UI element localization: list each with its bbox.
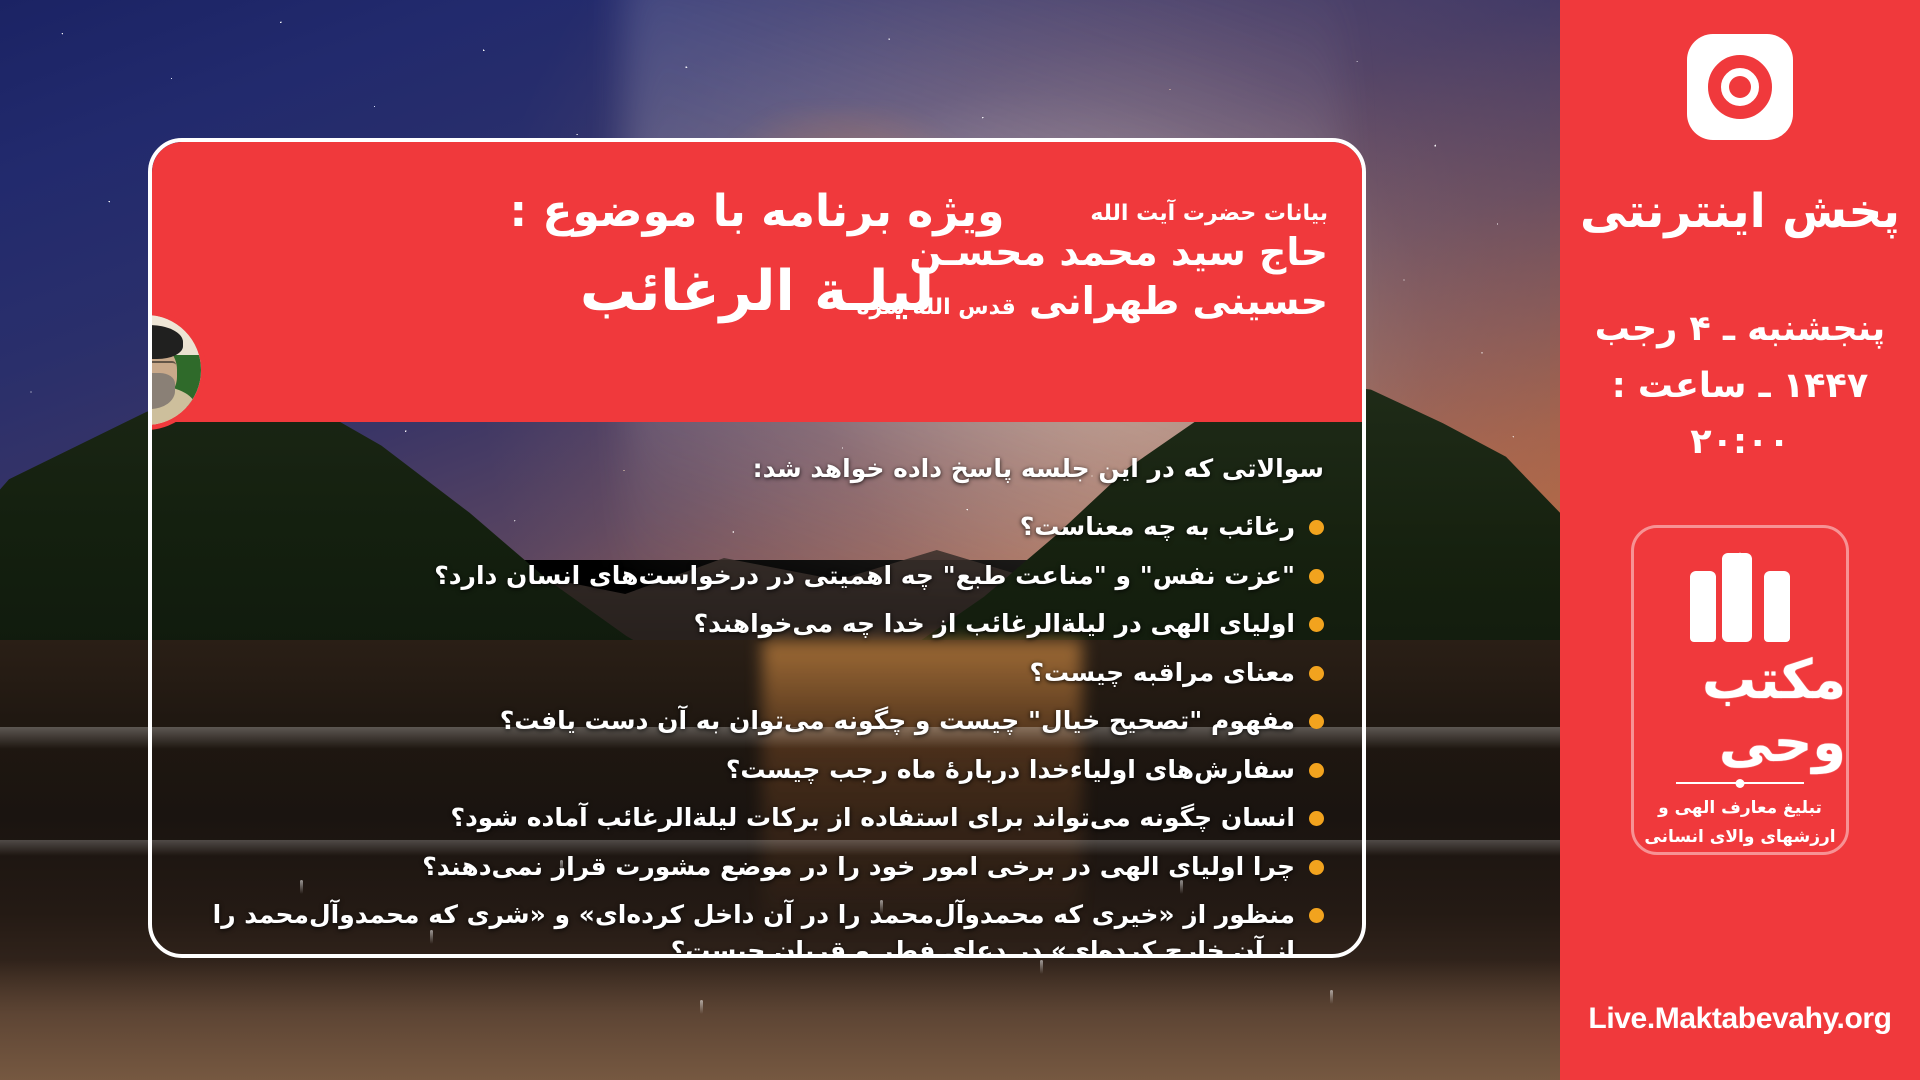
organization-logo: مکتب وحی تبلیغ معارف الهی و ارزشهای والا… (1631, 525, 1849, 855)
candle-flame-icon (1680, 552, 1800, 642)
program-title-line2: لیلـة الرغائب (152, 259, 1362, 324)
event-time-line: ۱۴۴۷ ـ ساعت : ۲۰:۰۰ (1560, 358, 1920, 471)
question-text: چرا اولیای الهی در برخی امور خود را در م… (190, 849, 1295, 885)
question-item: سفارش‌های اولیاءخدا دربارۀ ماه رجب چیست؟ (190, 752, 1324, 788)
bullet-icon (1309, 520, 1324, 535)
logo-tagline-line2: ارزشهای والای انسانی (1644, 823, 1835, 852)
question-item: اولیای الهی در لیلة‌الرغائب از خدا چه می… (190, 606, 1324, 642)
question-item: انسان چگونه می‌تواند برای استفاده از برک… (190, 800, 1324, 836)
bullet-icon (1309, 617, 1324, 632)
live-broadcast-icon (1687, 34, 1793, 140)
broadcast-url[interactable]: Live.Maktabevahy.org (1588, 1002, 1891, 1036)
question-text: منظور از «خیری که محمدوآل‌محمد را در آن … (190, 897, 1295, 958)
broadcast-sidebar: پخش اینترنتی پنجشنبه ـ ۴ رجب ۱۴۴۷ ـ ساعت… (1560, 0, 1920, 1080)
bullet-icon (1309, 714, 1324, 729)
event-date-line: پنجشنبه ـ ۴ رجب (1560, 301, 1920, 358)
content-card: بیانات حضرت آیت الله حاج سید محمد محسـن … (148, 138, 1366, 958)
logo-tagline-line1: تبلیغ معارف الهی و (1644, 794, 1835, 823)
questions-list: رغائب به چه معناست؟ "عزت نفس" و "مناعت ط… (190, 509, 1324, 958)
program-title-line1: ویژه برنامه با موضوع : (152, 186, 1362, 237)
bullet-icon (1309, 569, 1324, 584)
question-item: مفهوم "تصحیح خیال" چیست و چگونه می‌توان … (190, 703, 1324, 739)
event-poster: بیانات حضرت آیت الله حاج سید محمد محسـن … (0, 0, 1920, 1080)
logo-wordmark: مکتب وحی (1634, 648, 1846, 774)
question-item: رغائب به چه معناست؟ (190, 509, 1324, 545)
question-text: رغائب به چه معناست؟ (190, 509, 1295, 545)
questions-intro: سوالاتی که در این جلسه پاسخ داده خواهد ش… (190, 454, 1324, 483)
logo-divider (1676, 782, 1804, 784)
question-item: "عزت نفس" و "مناعت طبع" چه اهمیتی در درخ… (190, 558, 1324, 594)
event-datetime: پنجشنبه ـ ۴ رجب ۱۴۴۷ ـ ساعت : ۲۰:۰۰ (1560, 301, 1920, 471)
question-text: اولیای الهی در لیلة‌الرغائب از خدا چه می… (190, 606, 1295, 642)
program-title: ویژه برنامه با موضوع : لیلـة الرغائب (152, 186, 1362, 324)
question-item: چرا اولیای الهی در برخی امور خود را در م… (190, 849, 1324, 885)
bullet-icon (1309, 811, 1324, 826)
card-header: بیانات حضرت آیت الله حاج سید محمد محسـن … (152, 142, 1362, 422)
light-speck (1040, 960, 1043, 974)
portrait-photo (148, 315, 201, 425)
light-speck (1330, 990, 1333, 1004)
question-item: معنای مراقبه چیست؟ (190, 655, 1324, 691)
question-text: مفهوم "تصحیح خیال" چیست و چگونه می‌توان … (190, 703, 1295, 739)
logo-tagline: تبلیغ معارف الهی و ارزشهای والای انسانی (1634, 794, 1845, 852)
question-text: "عزت نفس" و "مناعت طبع" چه اهمیتی در درخ… (190, 558, 1295, 594)
question-item: منظور از «خیری که محمدوآل‌محمد را در آن … (190, 897, 1324, 958)
questions-section: سوالاتی که در این جلسه پاسخ داده خواهد ش… (152, 422, 1362, 958)
question-text: انسان چگونه می‌تواند برای استفاده از برک… (190, 800, 1295, 836)
bullet-icon (1309, 908, 1324, 923)
speaker-portrait (148, 310, 206, 430)
question-text: سفارش‌های اولیاءخدا دربارۀ ماه رجب چیست؟ (190, 752, 1295, 788)
light-speck (700, 1000, 703, 1014)
broadcast-heading: پخش اینترنتی (1580, 184, 1900, 239)
bullet-icon (1309, 666, 1324, 681)
bullet-icon (1309, 860, 1324, 875)
bullet-icon (1309, 763, 1324, 778)
question-text: معنای مراقبه چیست؟ (190, 655, 1295, 691)
